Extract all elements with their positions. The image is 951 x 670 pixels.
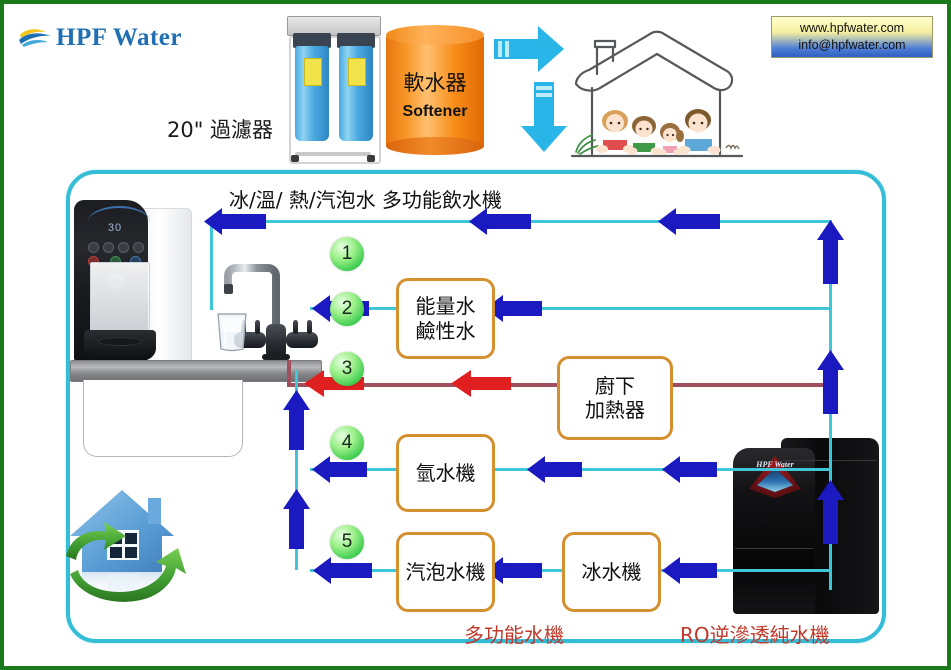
step-number-3: 3 <box>330 352 364 386</box>
box-heater-line2: 加熱器 <box>585 398 645 422</box>
box-hydrogen-line1: 氫水機 <box>416 461 476 485</box>
step-number-5: 5 <box>330 525 364 559</box>
diagram-canvas: HPF Water www.hpfwater.com info@hpfwater… <box>0 0 951 670</box>
step-number-1: 1 <box>330 237 364 271</box>
box-energy-water-line1: 能量水 <box>416 294 476 318</box>
box-energy-water-line2: 鹼性水 <box>416 319 476 343</box>
multifunction-footer-label: 多功能水機 <box>464 619 564 648</box>
box-ice-line1: 冰水機 <box>582 560 642 584</box>
box-sparkling-water[interactable]: 汽泡水機 <box>396 532 495 612</box>
box-heater-line1: 廚下 <box>595 374 635 398</box>
box-sparkling-line1: 汽泡水機 <box>406 560 486 584</box>
box-ice-water[interactable]: 冰水機 <box>562 532 661 612</box>
step-number-2: 2 <box>330 292 364 326</box>
box-energy-water[interactable]: 能量水 鹼性水 <box>396 278 495 359</box>
step-number-4: 4 <box>330 426 364 460</box>
ro-footer-label: RO逆滲透純水機 <box>680 619 830 648</box>
box-hydrogen-water[interactable]: 氫水機 <box>396 434 495 512</box>
box-under-sink-heater[interactable]: 廚下 加熱器 <box>557 356 673 440</box>
